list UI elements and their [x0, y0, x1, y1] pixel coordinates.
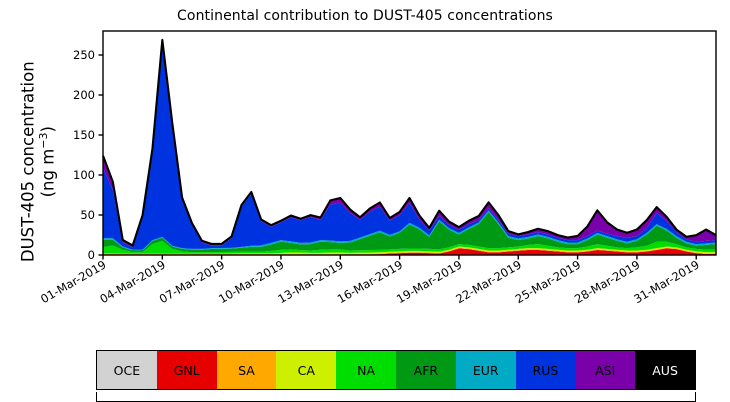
x-tick-label: 31-Mar-2019: [631, 257, 701, 306]
secondary-axis-frame: [96, 392, 696, 402]
y-tick-label: 0: [88, 248, 95, 262]
x-tick-label: 07-Mar-2019: [157, 257, 227, 306]
x-tick-label: 10-Mar-2019: [216, 257, 286, 306]
y-tick-label: 150: [73, 128, 95, 142]
y-tick-label: 200: [73, 88, 95, 102]
legend-item-gnl[interactable]: GNL: [157, 351, 217, 389]
x-tick-label: 19-Mar-2019: [394, 257, 464, 306]
legend-item-eur[interactable]: EUR: [456, 351, 516, 389]
stacked-area-plot: 05010015020025001-Mar-201904-Mar-201907-…: [0, 0, 730, 402]
legend-item-aus[interactable]: AUS: [635, 351, 695, 389]
x-tick-label: 16-Mar-2019: [335, 257, 405, 306]
x-tick-label: 04-Mar-2019: [97, 257, 167, 306]
legend-item-ca[interactable]: CA: [276, 351, 336, 389]
y-tick-label: 250: [73, 48, 95, 62]
y-tick-label: 100: [73, 168, 95, 182]
area-band-rus: [103, 45, 716, 250]
figure-canvas: Continental contribution to DUST-405 con…: [0, 0, 730, 402]
legend-item-oce[interactable]: OCE: [97, 351, 157, 389]
legend-item-na[interactable]: NA: [336, 351, 396, 389]
legend: OCEGNLSACANAAFREURRUSASIAUS: [96, 350, 696, 390]
legend-item-afr[interactable]: AFR: [396, 351, 456, 389]
legend-item-rus[interactable]: RUS: [516, 351, 576, 389]
x-tick-label: 22-Mar-2019: [453, 257, 523, 306]
x-tick-label: 13-Mar-2019: [275, 257, 345, 306]
x-tick-label: 28-Mar-2019: [572, 257, 642, 306]
legend-item-sa[interactable]: SA: [217, 351, 277, 389]
x-tick-label: 01-Mar-2019: [38, 257, 108, 306]
y-tick-label: 50: [80, 208, 95, 222]
x-tick-label: 25-Mar-2019: [513, 257, 583, 306]
legend-item-asi[interactable]: ASI: [575, 351, 635, 389]
